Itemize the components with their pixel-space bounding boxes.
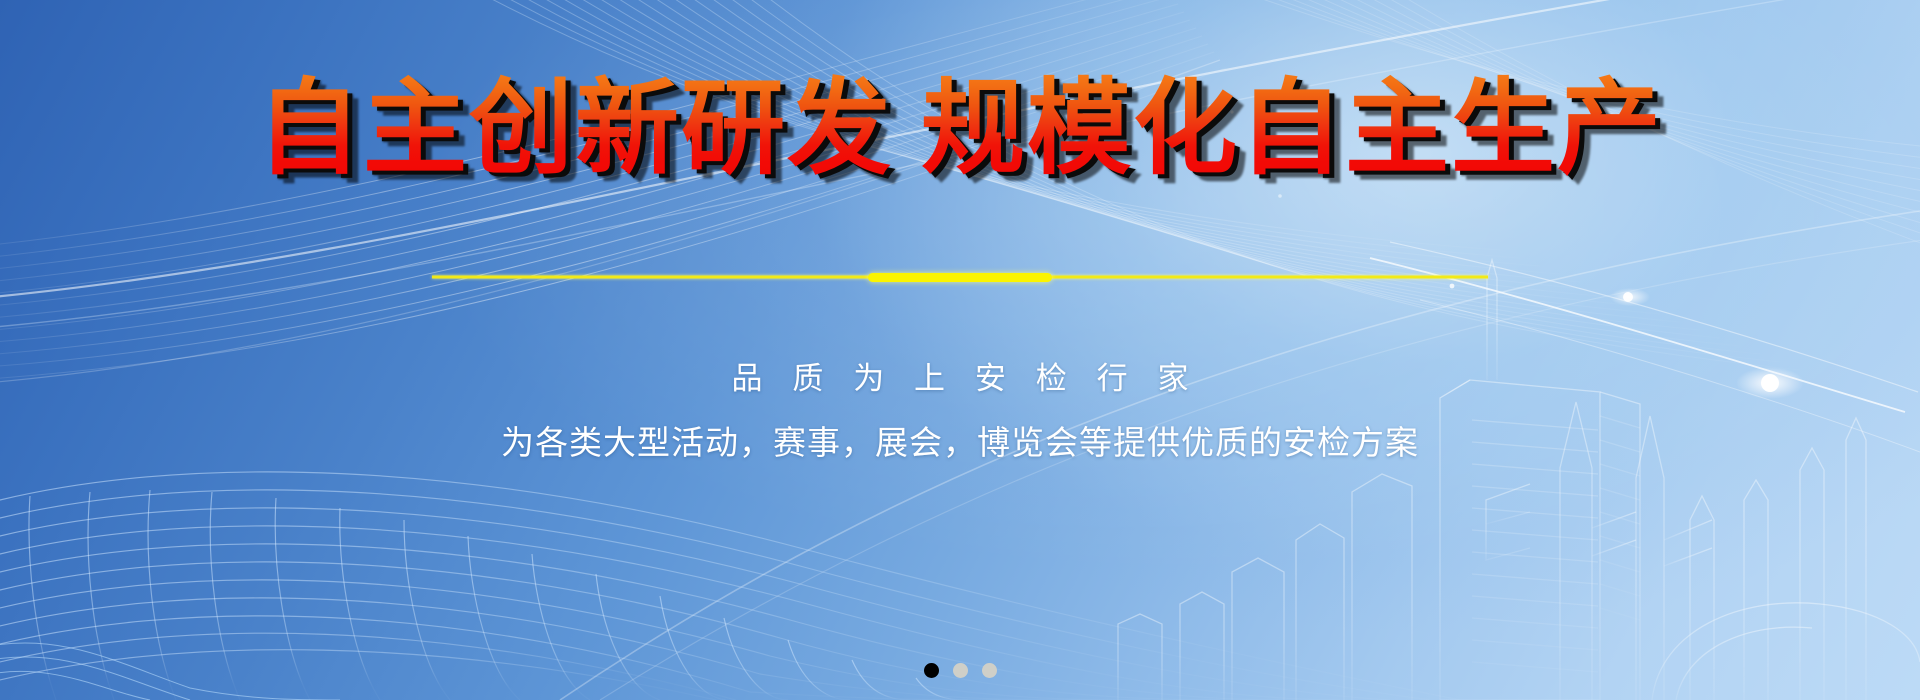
carousel-dot-2[interactable] (953, 663, 968, 678)
banner-title-part2: 规模化自主生产 (921, 74, 1663, 182)
divider-line (432, 271, 1488, 283)
banner-title-part1: 自主创新研发 (257, 74, 893, 182)
banner-title: 自主创新研发规模化自主生产 (0, 74, 1920, 182)
divider-center-accent (868, 273, 1052, 282)
banner-subtitles: 品 质 为 上 安 检 行 家 为各类大型活动，赛事，展会，博览会等提供优质的安… (0, 356, 1920, 466)
carousel-dot-3[interactable] (982, 663, 997, 678)
title-divider (0, 270, 1920, 284)
carousel-indicators[interactable] (0, 663, 1920, 678)
banner-slogan: 品 质 为 上 安 检 行 家 (0, 356, 1920, 403)
hero-banner: 自主创新研发规模化自主生产 品 质 为 上 安 检 行 家 为各类大型活动，赛事… (0, 0, 1920, 700)
carousel-dot-1[interactable] (924, 663, 939, 678)
banner-description: 为各类大型活动，赛事，展会，博览会等提供优质的安检方案 (0, 419, 1920, 467)
